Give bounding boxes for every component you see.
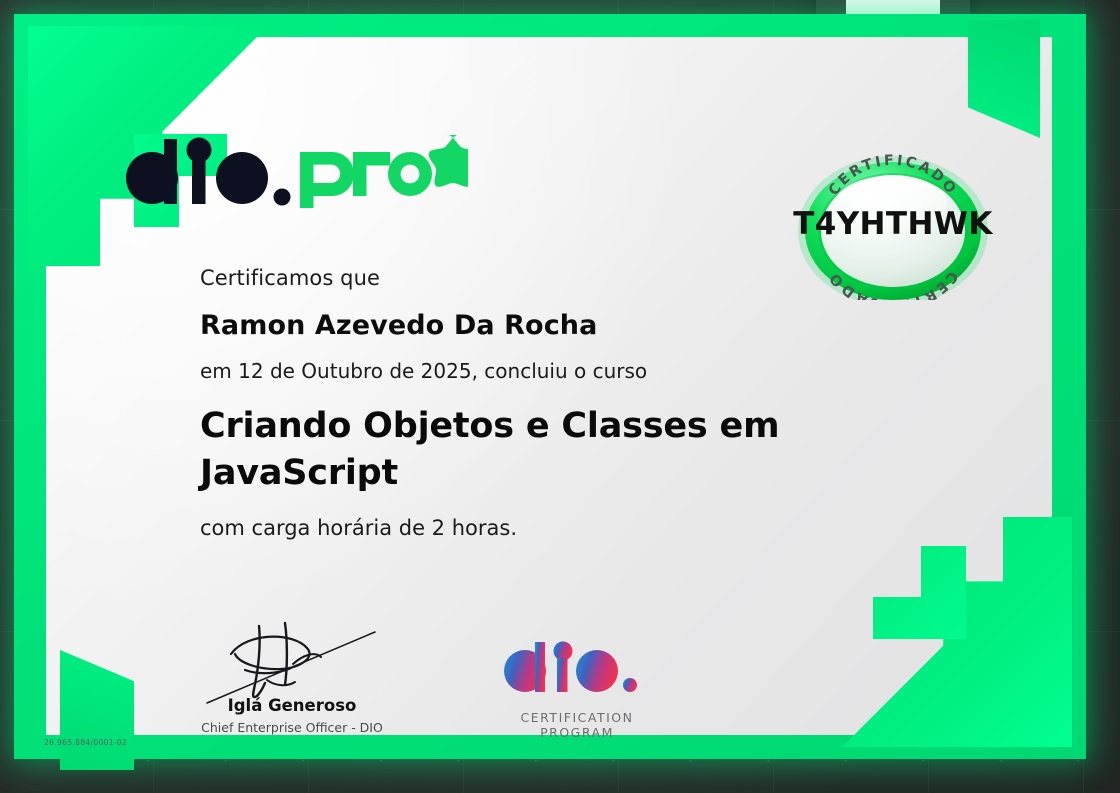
star-icon [429, 135, 468, 187]
seal-gloss [835, 176, 947, 230]
date-line: em 12 de Outubro de 2025, concluiu o cur… [200, 359, 820, 383]
cnpj-number: 26.965.884/0001-02 [44, 738, 127, 747]
signature-block: Iglá Generoso Chief Enterprise Officer -… [186, 618, 398, 735]
logo-dio-mark [126, 138, 291, 206]
recipient-name: Ramon Azevedo Da Rocha [200, 310, 820, 341]
workload-line: com carga horária de 2 horas. [200, 516, 820, 540]
certificate: Certificamos que Ramon Azevedo Da Rocha … [14, 14, 1086, 759]
certificate-seal: CERTIFICADO CERTIFICADO T4YHTHWK [795, 147, 991, 300]
dio-tagline: CERTIFICATION PROGRAM [482, 710, 672, 740]
certificate-body-text: Certificamos que Ramon Azevedo Da Rocha … [200, 266, 820, 540]
logo-pro-text [300, 152, 432, 208]
dio-pro-logo [118, 130, 468, 208]
dio-certification-logo: CERTIFICATION PROGRAM [482, 638, 672, 740]
intro-line: Certificamos que [200, 266, 820, 290]
signatory-name: Iglá Generoso [186, 696, 398, 715]
course-title: Criando Objetos e Classes em JavaScript [200, 403, 820, 496]
signatory-role: Chief Enterprise Officer - DIO [186, 720, 398, 735]
dio-gradient-mark [497, 638, 657, 700]
